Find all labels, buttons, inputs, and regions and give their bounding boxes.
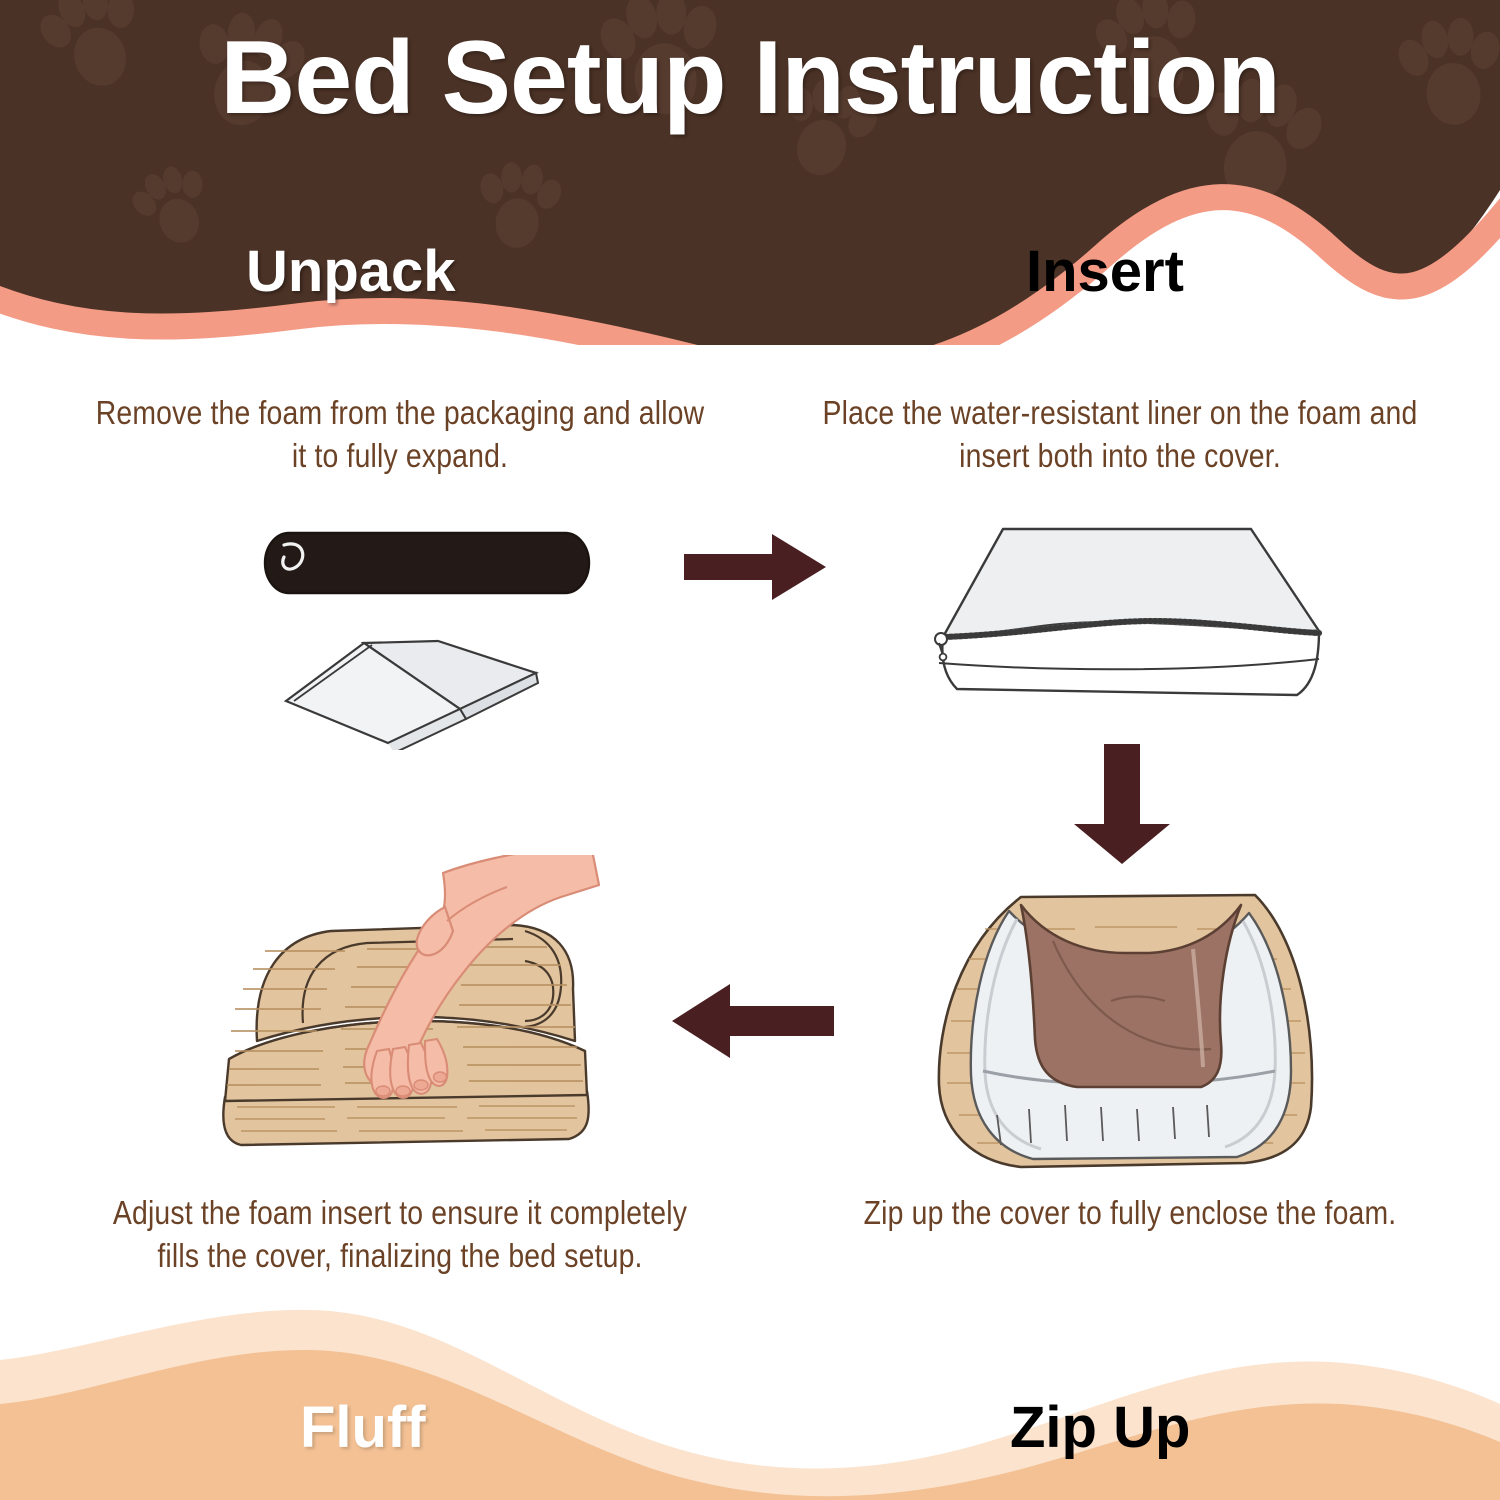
step-label-zip-up: Zip Up <box>1010 1399 1190 1457</box>
caption-fluff: Adjust the foam insert to ensure it comp… <box>90 1192 709 1278</box>
arrow-right-icon <box>680 528 830 606</box>
folded-liner-icon <box>286 641 538 750</box>
step-label-insert: Insert <box>1026 243 1184 301</box>
header-banner: Bed Setup Instruction <box>0 0 1500 345</box>
illustration-rolled-foam-and-liner <box>260 515 620 750</box>
arrow-down-icon <box>1058 738 1186 868</box>
step-label-unpack: Unpack <box>246 243 456 301</box>
page-title: Bed Setup Instruction <box>0 24 1500 133</box>
footer-wave-graphic <box>0 1300 1500 1500</box>
caption-zip-up: Zip up the cover to fully enclose the fo… <box>829 1192 1431 1235</box>
rolled-foam-icon <box>265 533 589 593</box>
illustration-open-cover-with-foam <box>925 875 1335 1180</box>
arrow-left-icon <box>668 978 838 1064</box>
caption-unpack: Remove the foam from the packaging and a… <box>90 392 709 478</box>
illustration-zippered-cushion <box>895 505 1325 720</box>
infographic-page: Bed Setup Instruction Unpack Insert Remo… <box>0 0 1500 1500</box>
footer-banner <box>0 1300 1500 1500</box>
illustration-dog-bed-with-hand <box>195 855 625 1180</box>
step-label-fluff: Fluff <box>300 1399 426 1457</box>
caption-insert: Place the water-resistant liner on the f… <box>819 392 1421 478</box>
